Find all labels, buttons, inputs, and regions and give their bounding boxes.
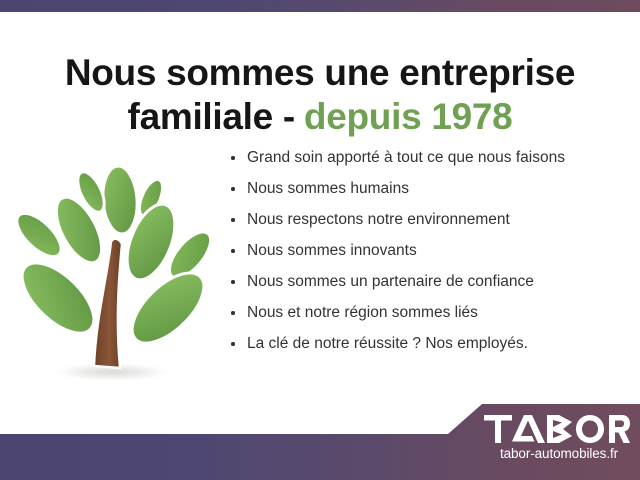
list-item-label: Nous sommes humains (247, 180, 409, 197)
bullet-icon (231, 249, 235, 253)
list-item-label: Nous sommes innovants (247, 242, 417, 259)
headline-line-1: Nous sommes une entreprise (60, 51, 580, 95)
list-item: Grand soin apporté à tout ce que nous fa… (230, 148, 630, 167)
bullet-icon (231, 280, 235, 284)
logo-tagline: tabor-automobiles.fr (484, 446, 634, 462)
bullet-icon (231, 187, 235, 191)
tree-leaf (10, 251, 105, 345)
headline-accent: depuis 1978 (304, 96, 513, 137)
list-item-label: Nous sommes un partenaire de confiance (247, 273, 534, 290)
list-item: La clé de notre réussite ? Nos employés. (230, 334, 630, 353)
list-item: Nous respectons notre environnement (230, 210, 630, 229)
list-item: Nous sommes humains (230, 179, 630, 198)
bullet-icon (231, 311, 235, 315)
value-list: Grand soin apporté à tout ce que nous fa… (230, 148, 630, 353)
headline-line-2: familiale -depuis 1978 (60, 95, 580, 139)
bullet-icon (231, 342, 235, 346)
top-accent-bar (0, 0, 640, 12)
bullet-icon (231, 218, 235, 222)
list-item-label: La clé de notre réussite ? Nos employés. (247, 335, 528, 352)
tree-illustration (8, 138, 220, 392)
bullet-icon (231, 156, 235, 160)
brand-logo[interactable]: tabor-automobiles.fr (484, 414, 634, 462)
page-title: Nous sommes une entreprise familiale -de… (60, 51, 580, 139)
list-item-label: Nous respectons notre environnement (247, 211, 510, 228)
list-item: Nous et notre région sommes liés (230, 303, 630, 322)
tabor-wordmark-icon (484, 414, 630, 444)
tree-leaf (101, 165, 140, 235)
list-item-label: Nous et notre région sommes liés (247, 304, 478, 321)
list-item-label: Grand soin apporté à tout ce que nous fa… (247, 149, 565, 166)
slide-canvas: Nous sommes une entreprise familiale -de… (0, 0, 640, 480)
list-item: Nous sommes un partenaire de confiance (230, 272, 630, 291)
list-item: Nous sommes innovants (230, 241, 630, 260)
headline-line-2-main: familiale - (128, 96, 295, 137)
